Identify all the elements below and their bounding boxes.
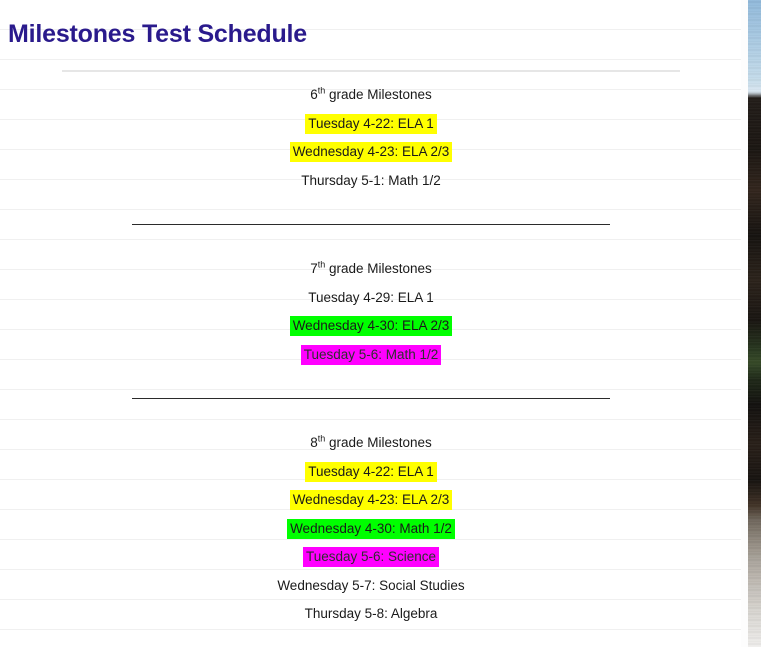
schedule-entry: Wednesday 4-23: ELA 2/3 bbox=[62, 485, 680, 514]
schedule-body: 6th grade MilestonesTuesday 4-22: ELA 1W… bbox=[62, 80, 680, 628]
schedule-entry-text: Tuesday 4-22: ELA 1 bbox=[305, 114, 437, 134]
schedule-entry: Wednesday 4-30: ELA 2/3 bbox=[62, 311, 680, 340]
section-spacer bbox=[62, 399, 680, 428]
grade-heading: 7th grade Milestones bbox=[62, 254, 680, 283]
page-title: Milestones Test Schedule bbox=[8, 20, 307, 49]
section-spacer bbox=[62, 368, 680, 398]
schedule-entry: Thursday 5-8: Algebra bbox=[62, 599, 680, 628]
schedule-entry-text: Tuesday 4-22: ELA 1 bbox=[305, 462, 437, 482]
schedule-entry-text: Wednesday 4-23: ELA 2/3 bbox=[290, 142, 453, 162]
grade-heading-label: grade Milestones bbox=[325, 87, 432, 102]
schedule-entry-text: Wednesday 4-23: ELA 2/3 bbox=[290, 490, 453, 510]
page-right-gutter bbox=[741, 0, 748, 647]
schedule-entry-text: Tuesday 5-6: Math 1/2 bbox=[301, 345, 442, 365]
schedule-entry-text: Wednesday 4-30: ELA 2/3 bbox=[290, 316, 453, 336]
grade-number: 7 bbox=[310, 261, 318, 276]
schedule-entry-text: Wednesday 4-30: Math 1/2 bbox=[287, 519, 455, 539]
schedule-entry: Wednesday 5-7: Social Studies bbox=[62, 571, 680, 600]
document-page: Milestones Test Schedule 6th grade Miles… bbox=[0, 0, 761, 647]
section-spacer bbox=[62, 225, 680, 254]
grade-heading-label: grade Milestones bbox=[325, 261, 432, 276]
grade-section: 8th grade MilestonesTuesday 4-22: ELA 1W… bbox=[62, 428, 680, 628]
schedule-entry: Tuesday 4-22: ELA 1 bbox=[62, 457, 680, 486]
schedule-entry: Tuesday 5-6: Math 1/2 bbox=[62, 340, 680, 369]
grade-number: 6 bbox=[310, 87, 318, 102]
schedule-entry-text: Wednesday 5-7: Social Studies bbox=[274, 576, 467, 596]
schedule-entry: Tuesday 5-6: Science bbox=[62, 542, 680, 571]
schedule-entry: Tuesday 4-29: ELA 1 bbox=[62, 283, 680, 312]
schedule-entry-text: Thursday 5-8: Algebra bbox=[302, 604, 441, 624]
background-photo-sliver bbox=[748, 0, 761, 647]
schedule-entry-text: Tuesday 4-29: ELA 1 bbox=[305, 288, 437, 308]
grade-heading: 6th grade Milestones bbox=[62, 80, 680, 109]
grade-section: 6th grade MilestonesTuesday 4-22: ELA 1W… bbox=[62, 80, 680, 194]
schedule-entry: Tuesday 4-22: ELA 1 bbox=[62, 109, 680, 138]
schedule-entry-text: Thursday 5-1: Math 1/2 bbox=[298, 171, 444, 191]
header-divider bbox=[62, 70, 680, 72]
grade-section: 7th grade MilestonesTuesday 4-29: ELA 1W… bbox=[62, 254, 680, 368]
photo-grain-overlay bbox=[748, 0, 761, 647]
schedule-entry: Thursday 5-1: Math 1/2 bbox=[62, 166, 680, 195]
section-spacer bbox=[62, 194, 680, 224]
schedule-entry-text: Tuesday 5-6: Science bbox=[303, 547, 439, 567]
grade-number: 8 bbox=[310, 435, 318, 450]
grade-heading: 8th grade Milestones bbox=[62, 428, 680, 457]
schedule-entry: Wednesday 4-23: ELA 2/3 bbox=[62, 137, 680, 166]
schedule-entry: Wednesday 4-30: Math 1/2 bbox=[62, 514, 680, 543]
grade-heading-label: grade Milestones bbox=[325, 435, 432, 450]
